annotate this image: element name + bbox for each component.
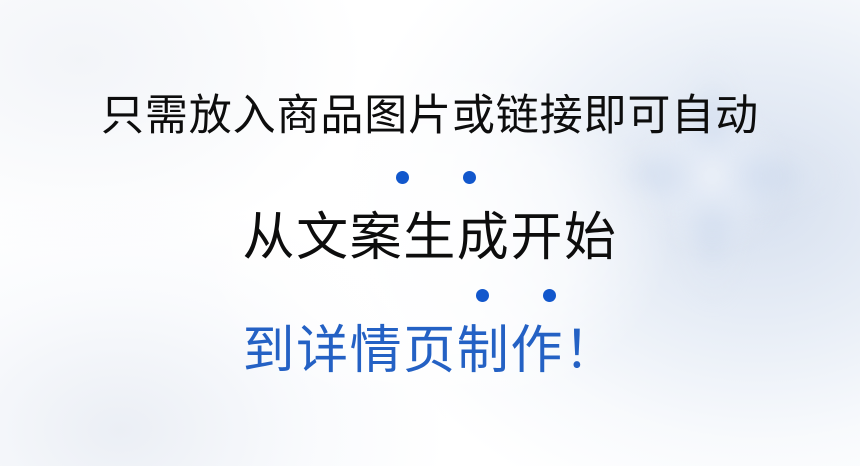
separator-dot bbox=[476, 289, 489, 302]
dot-separator-row-2 bbox=[476, 289, 556, 302]
separator-dot bbox=[396, 171, 409, 184]
headline-line-3: 到详情页制作！ bbox=[0, 318, 860, 384]
banner-content: 只需放入商品图片或链接即可自动 从文案生成开始 到详情页制作！ bbox=[0, 0, 860, 466]
dot-separator-row-1 bbox=[396, 171, 476, 184]
promo-banner: 只需放入商品图片或链接即可自动 从文案生成开始 到详情页制作！ bbox=[0, 0, 860, 466]
separator-dot bbox=[543, 289, 556, 302]
separator-dot bbox=[463, 171, 476, 184]
headline-line-1: 只需放入商品图片或链接即可自动 bbox=[0, 88, 860, 144]
headline-line-2: 从文案生成开始 bbox=[0, 205, 860, 271]
